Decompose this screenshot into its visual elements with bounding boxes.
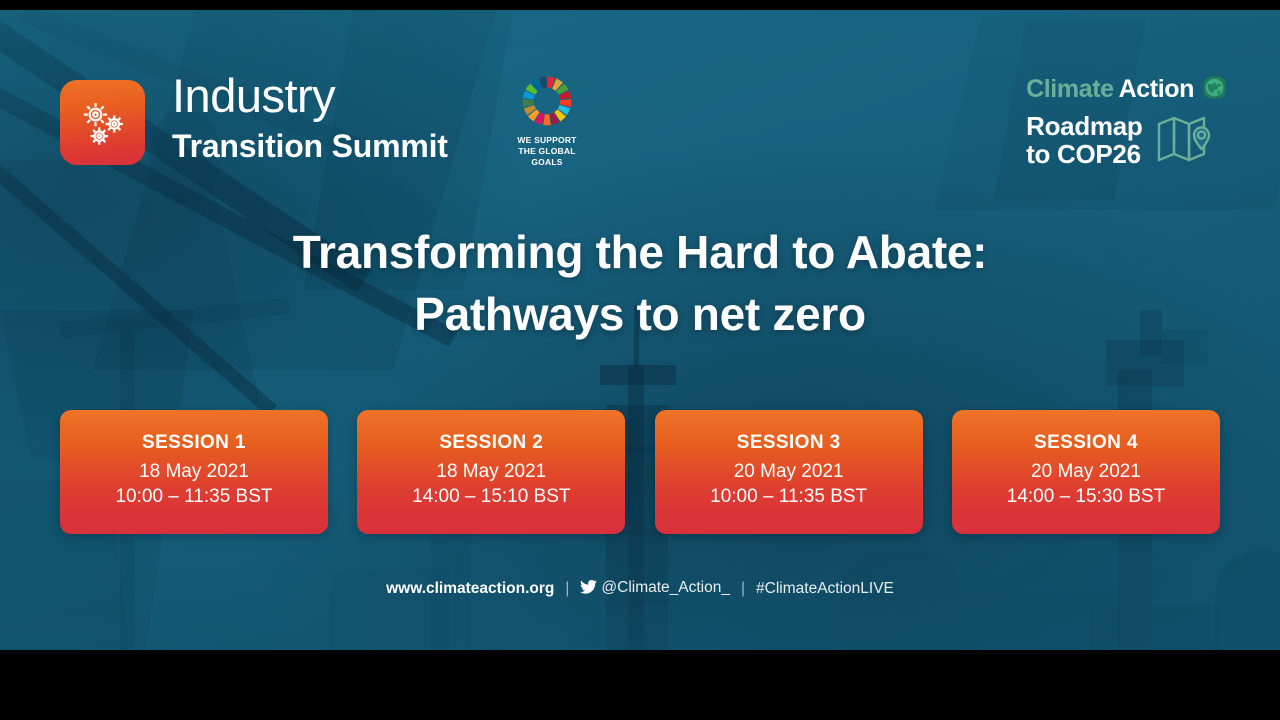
letterbox-bottom xyxy=(0,650,1280,720)
slide-footer: www.climateaction.org | @Climate_Action_… xyxy=(0,579,1280,599)
event-hashtag[interactable]: #ClimateActionLIVE xyxy=(756,580,894,598)
session-date: 18 May 2021 xyxy=(70,461,318,483)
folded-map-pin-icon xyxy=(1156,114,1218,167)
session-card[interactable]: SESSION 2 18 May 2021 14:00 – 15:10 BST xyxy=(357,410,625,534)
session-card[interactable]: SESSION 4 20 May 2021 14:00 – 15:30 BST xyxy=(952,410,1220,534)
session-name: SESSION 4 xyxy=(962,432,1210,454)
sdg-color-wheel-icon xyxy=(505,72,589,130)
slide-header: Industry Transition Summit WE SUPPORT xyxy=(0,10,1280,195)
presentation-slide: Industry Transition Summit WE SUPPORT xyxy=(0,10,1280,650)
session-name: SESSION 3 xyxy=(665,432,913,454)
session-card[interactable]: SESSION 1 18 May 2021 10:00 – 11:35 BST xyxy=(60,410,328,534)
session-time: 10:00 – 11:35 BST xyxy=(665,486,913,508)
page-title-line2: Pathways to net zero xyxy=(0,284,1280,346)
globe-icon xyxy=(1201,74,1228,105)
session-card-list: SESSION 1 18 May 2021 10:00 – 11:35 BST … xyxy=(60,410,1220,534)
roadmap-line1: Roadmap xyxy=(1026,112,1142,140)
footer-separator: | xyxy=(741,580,745,598)
page-title: Transforming the Hard to Abate: Pathways… xyxy=(0,222,1280,345)
session-date: 18 May 2021 xyxy=(367,461,615,483)
twitter-bird-icon xyxy=(580,580,597,599)
global-goals-caption-line1: WE SUPPORT xyxy=(505,135,589,146)
global-goals-caption-line2: THE GLOBAL GOALS xyxy=(505,146,589,168)
session-name: SESSION 2 xyxy=(367,432,615,454)
climate-action-action-word: Action xyxy=(1119,77,1194,102)
gears-icon xyxy=(73,93,133,153)
session-time: 14:00 – 15:10 BST xyxy=(367,486,615,508)
session-date: 20 May 2021 xyxy=(962,461,1210,483)
session-card[interactable]: SESSION 3 20 May 2021 10:00 – 11:35 BST xyxy=(655,410,923,534)
climate-action-climate-word: Climate xyxy=(1026,77,1114,102)
slide-stage: Industry Transition Summit WE SUPPORT xyxy=(0,0,1280,720)
twitter-handle[interactable]: @Climate_Action_ xyxy=(580,579,730,599)
global-goals-caption: WE SUPPORT THE GLOBAL GOALS xyxy=(505,135,589,169)
summit-name-line1: Industry xyxy=(172,72,448,119)
climate-action-roadmap-logo: Climate Action xyxy=(1026,74,1228,168)
roadmap-wordmark: Roadmap to COP26 xyxy=(1026,112,1142,168)
session-date: 20 May 2021 xyxy=(665,461,913,483)
session-time: 10:00 – 11:35 BST xyxy=(70,486,318,508)
industry-transition-summit-logo xyxy=(60,80,145,165)
page-title-line1: Transforming the Hard to Abate: xyxy=(0,222,1280,284)
roadmap-line2: to COP26 xyxy=(1026,140,1142,168)
letterbox-top xyxy=(0,0,1280,10)
session-time: 14:00 – 15:30 BST xyxy=(962,486,1210,508)
session-name: SESSION 1 xyxy=(70,432,318,454)
summit-name-line2: Transition Summit xyxy=(172,130,448,162)
summit-wordmark: Industry Transition Summit xyxy=(172,72,448,162)
global-goals-logo: WE SUPPORT THE GLOBAL GOALS xyxy=(505,72,589,169)
twitter-handle-text: @Climate_Action_ xyxy=(601,579,730,596)
website-link[interactable]: www.climateaction.org xyxy=(386,580,554,598)
footer-separator: | xyxy=(565,580,569,598)
